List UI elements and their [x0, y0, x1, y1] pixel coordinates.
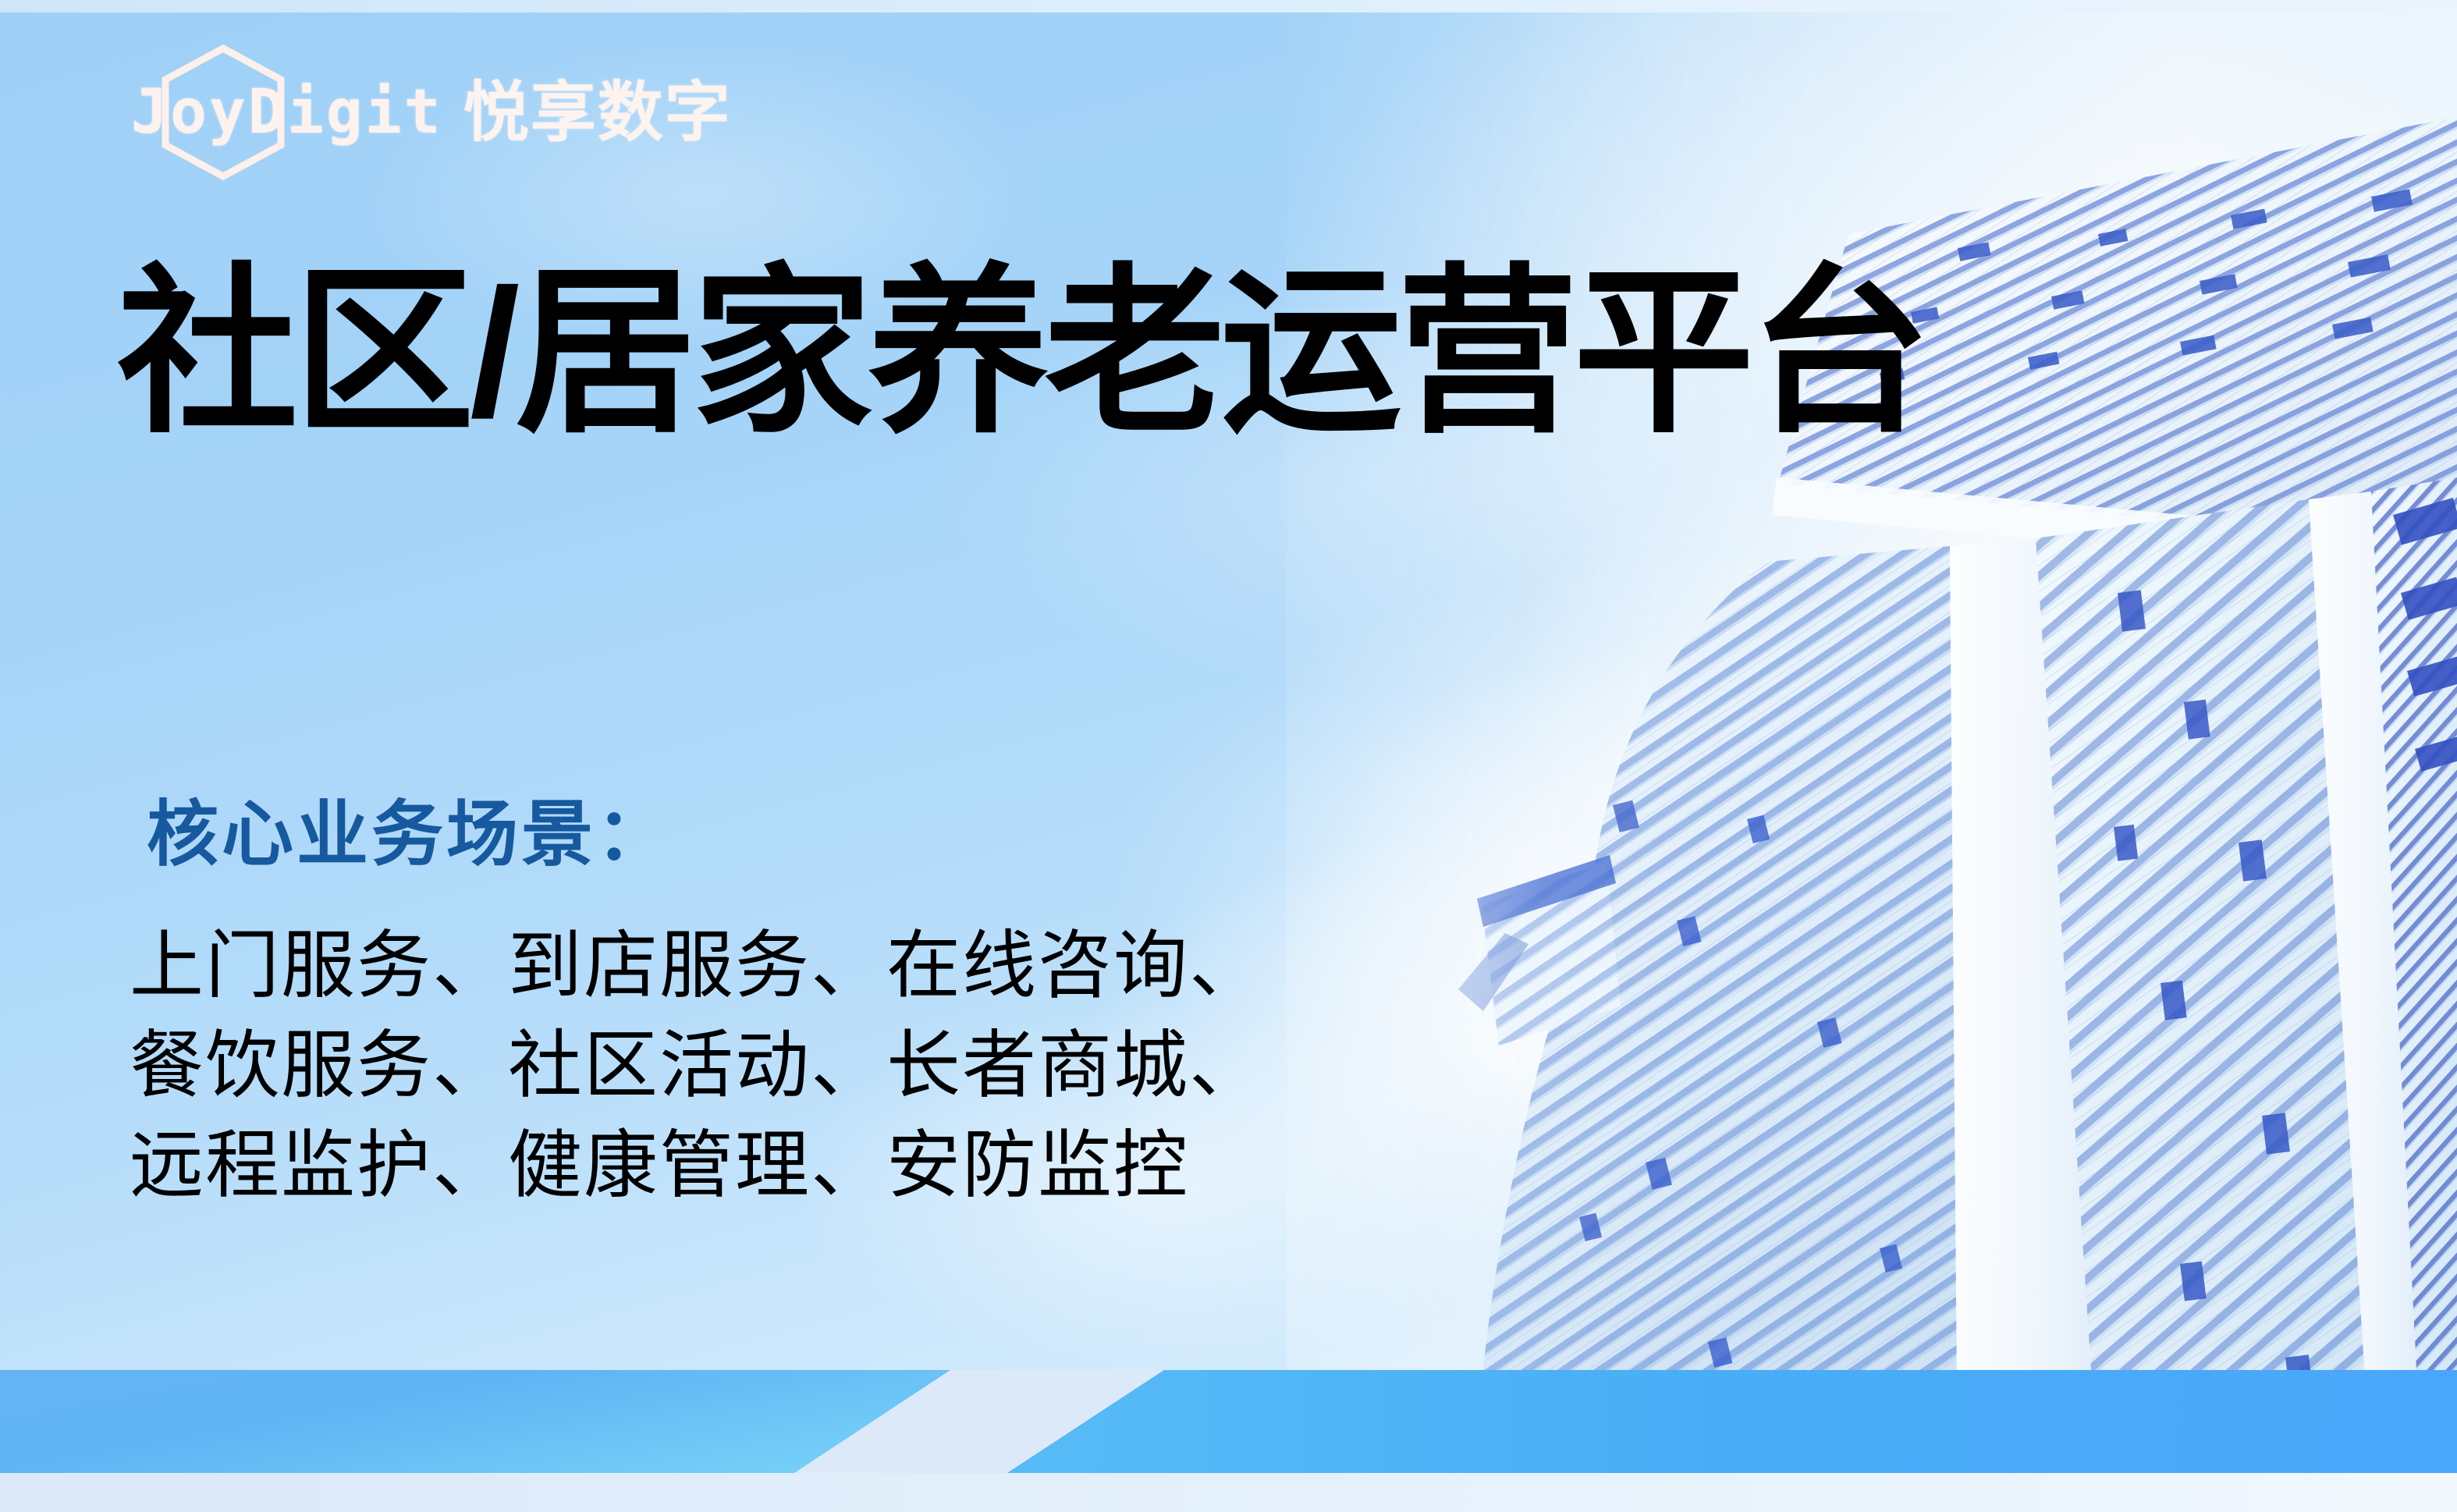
logo-chinese-text: 悦享数字: [463, 80, 732, 145]
scenario-line-1: 上门服务、到店服务、在线咨询、: [130, 922, 1265, 1010]
brand-logo[interactable]: JoyDigit 悦享数字: [131, 66, 732, 159]
slide-canvas: JoyDigit 悦享数字 社区/居家养老运营平台 核心业务场景： 上门服务、到…: [0, 0, 2457, 1512]
footer-base-strip: [0, 1473, 2457, 1512]
footer-left-wedge: [0, 1370, 952, 1475]
scenario-text-block: 上门服务、到店服务、在线咨询、 餐饮服务、社区活动、长者商城、 远程监护、健康管…: [130, 922, 1265, 1209]
page-title: 社区/居家养老运营平台: [117, 257, 1926, 449]
scenario-line-2: 餐饮服务、社区活动、长者商城、: [130, 1022, 1265, 1109]
glass-skyscraper-photo: [1411, 0, 2457, 1475]
footer-decorative-bar: [0, 1370, 2457, 1475]
scenario-line-3: 远程监护、健康管理、安防监控: [130, 1122, 1265, 1209]
logo-latin-text: JoyDigit: [131, 82, 443, 143]
section-heading: 核心业务场景：: [147, 776, 671, 880]
top-edge-strip: [0, 0, 2457, 12]
